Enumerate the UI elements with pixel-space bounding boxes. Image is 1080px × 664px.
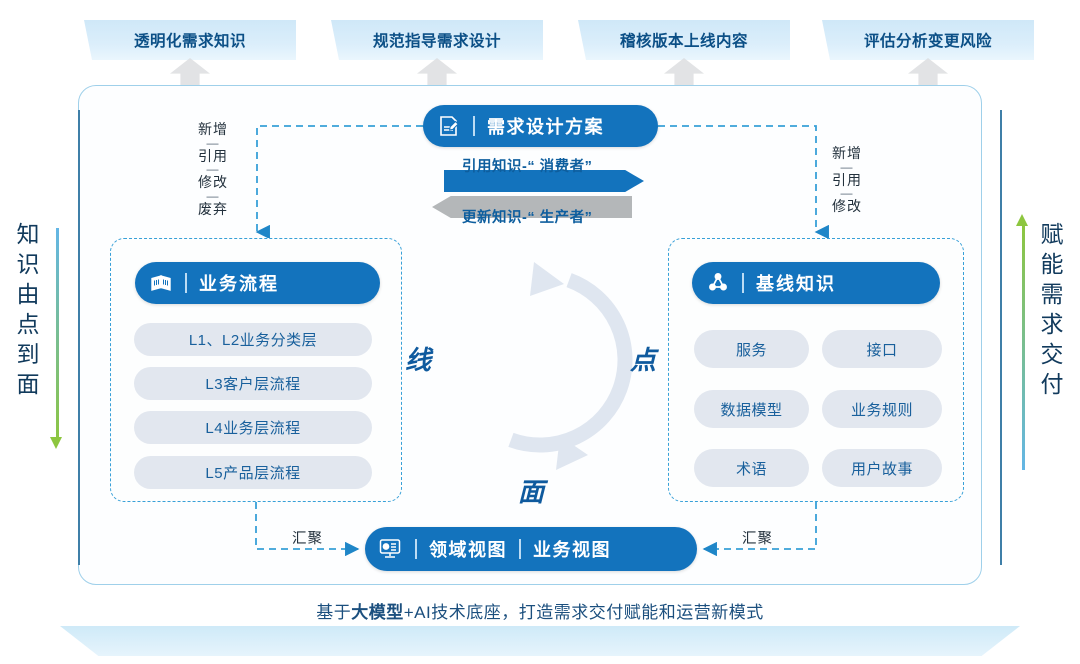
process-item-4[interactable]: L5产品层流程	[134, 456, 372, 489]
baseline-item-1[interactable]: 服务	[694, 330, 809, 368]
center-mark-plane: 面	[518, 472, 544, 509]
converge-label-left: 汇聚	[292, 527, 323, 548]
view-divider-2	[519, 539, 521, 559]
baseline-item-4[interactable]: 业务规则	[822, 390, 942, 428]
top-banner-2: 规范指导需求设计	[331, 20, 543, 60]
open-book-icon	[149, 272, 173, 294]
right-side-label: 赋能需求交付	[1038, 222, 1061, 402]
domain-view-label: 领域视图	[429, 536, 507, 562]
bottom-trapezoid-band	[60, 626, 1020, 656]
left-annotation-2: 修改	[198, 175, 228, 190]
left-annotation-stack: 新增 — 引用 — 修改 — 废弃	[198, 122, 228, 217]
left-divider-rule	[78, 110, 80, 565]
up-arrow-icon-3	[664, 58, 704, 88]
stack-dash: —	[832, 161, 862, 173]
process-divider	[185, 273, 187, 293]
business-view-label: 业务视图	[533, 536, 611, 562]
bottom-caption: 基于大模型+AI技术底座，打造需求交付赋能和运营新模式	[0, 598, 1080, 623]
top-banner-4-label: 评估分析变更风险	[864, 29, 992, 51]
top-banner-2-label: 规范指导需求设计	[373, 29, 501, 51]
process-item-1[interactable]: L1、L2业务分类层	[134, 323, 372, 356]
baseline-header[interactable]: 基线知识	[692, 262, 940, 304]
process-item-3[interactable]: L4业务层流程	[134, 411, 372, 444]
right-annotation-1: 引用	[832, 173, 862, 188]
produce-flow-label: 更新知识-“ 生产者”	[462, 206, 592, 227]
center-mark-line: 线	[405, 340, 431, 377]
baseline-item-3[interactable]: 数据模型	[694, 390, 809, 428]
right-annotation-0: 新增	[832, 146, 862, 161]
caption-bold: 大模型	[351, 603, 404, 622]
baseline-item-5[interactable]: 术语	[694, 449, 809, 487]
converge-label-right: 汇聚	[742, 527, 773, 548]
scheme-divider	[473, 116, 475, 136]
right-annotation-2: 修改	[832, 199, 862, 214]
left-accent-bar	[56, 228, 59, 443]
up-arrow-icon-1	[170, 58, 210, 88]
top-banner-3-label: 稽核版本上线内容	[620, 29, 748, 51]
view-bar[interactable]: 领域视图 业务视图	[365, 527, 697, 571]
left-side-label: 知识由点到面	[14, 222, 37, 402]
left-annotation-1: 引用	[198, 149, 228, 164]
top-banner-4: 评估分析变更风险	[822, 20, 1034, 60]
presentation-board-icon	[377, 537, 403, 561]
right-accent-arrow-icon	[1016, 214, 1028, 226]
consume-flow-label: 引用知识-“ 消费者”	[462, 155, 592, 176]
top-banner-3: 稽核版本上线内容	[578, 20, 790, 60]
right-accent-bar	[1022, 225, 1025, 470]
process-title: 业务流程	[199, 270, 279, 296]
stack-dash: —	[198, 137, 228, 149]
scheme-header[interactable]: 需求设计方案	[423, 105, 658, 147]
left-accent-arrow-icon	[50, 437, 62, 449]
up-arrow-icon-4	[908, 58, 948, 88]
document-edit-icon	[437, 114, 461, 138]
baseline-title: 基线知识	[756, 270, 836, 296]
baseline-item-2[interactable]: 接口	[822, 330, 942, 368]
process-header[interactable]: 业务流程	[135, 262, 380, 304]
caption-prefix: 基于	[316, 603, 351, 622]
top-banner-1-label: 透明化需求知识	[134, 29, 246, 51]
recycle-nodes-icon	[706, 271, 730, 295]
scheme-title: 需求设计方案	[487, 113, 604, 139]
right-annotation-stack: 新增 — 引用 — 修改	[832, 146, 862, 214]
view-divider-1	[415, 539, 417, 559]
center-mark-point: 点	[630, 340, 656, 377]
left-annotation-0: 新增	[198, 122, 228, 137]
up-arrow-icon-2	[417, 58, 457, 88]
baseline-divider	[742, 273, 744, 293]
diagram-canvas: 透明化需求知识 规范指导需求设计 稽核版本上线内容 评估分析变更风险 知识由点到…	[0, 0, 1080, 664]
baseline-item-6[interactable]: 用户故事	[822, 449, 942, 487]
left-annotation-3: 废弃	[198, 202, 228, 217]
process-item-2[interactable]: L3客户层流程	[134, 367, 372, 400]
right-divider-rule	[1000, 110, 1002, 565]
top-banner-1: 透明化需求知识	[84, 20, 296, 60]
caption-suffix: +AI技术底座，打造需求交付赋能和运营新模式	[404, 603, 764, 622]
